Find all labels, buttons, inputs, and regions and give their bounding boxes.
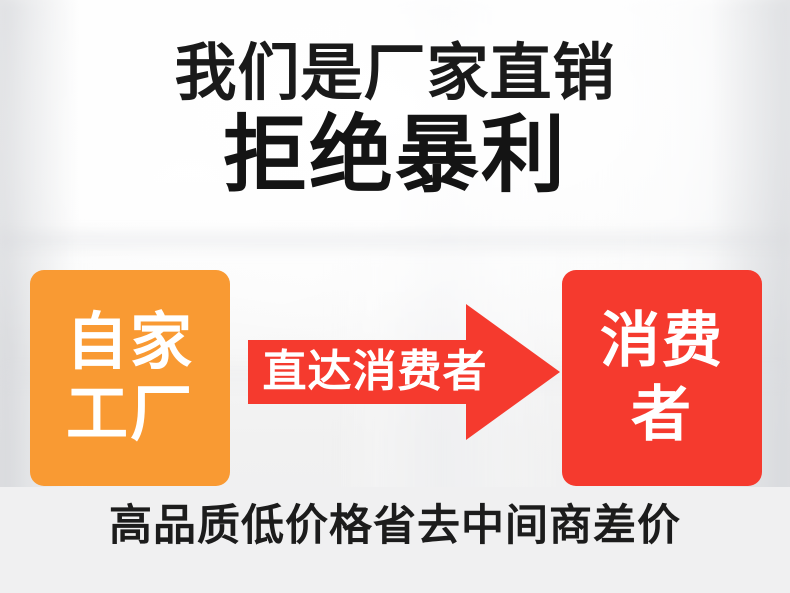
headline-block: 我们是厂家直销 拒绝暴利 <box>0 40 790 200</box>
supply-chain-flow: 自家 工厂 直达消费者 消费 者 <box>0 270 790 487</box>
flow-arrow-label: 直达消费者 <box>264 340 486 404</box>
flow-arrow: 直达消费者 <box>248 304 560 440</box>
flow-node-consumer-line2: 者 <box>631 378 693 452</box>
flow-node-consumer: 消费 者 <box>562 270 762 486</box>
flow-node-consumer-line1: 消费 <box>600 304 724 378</box>
flow-node-factory-line2: 工厂 <box>66 378 194 450</box>
headline-secondary: 拒绝暴利 <box>0 110 790 200</box>
promo-banner: 我们是厂家直销 拒绝暴利 自家 工厂 直达消费者 消费 者 高品质低价格省去中间… <box>0 0 790 593</box>
flow-node-factory-line1: 自家 <box>66 306 194 378</box>
flow-node-factory: 自家 工厂 <box>30 270 230 486</box>
headline-primary: 我们是厂家直销 <box>0 40 790 106</box>
tagline: 高品质低价格省去中间商差价 <box>0 500 790 552</box>
